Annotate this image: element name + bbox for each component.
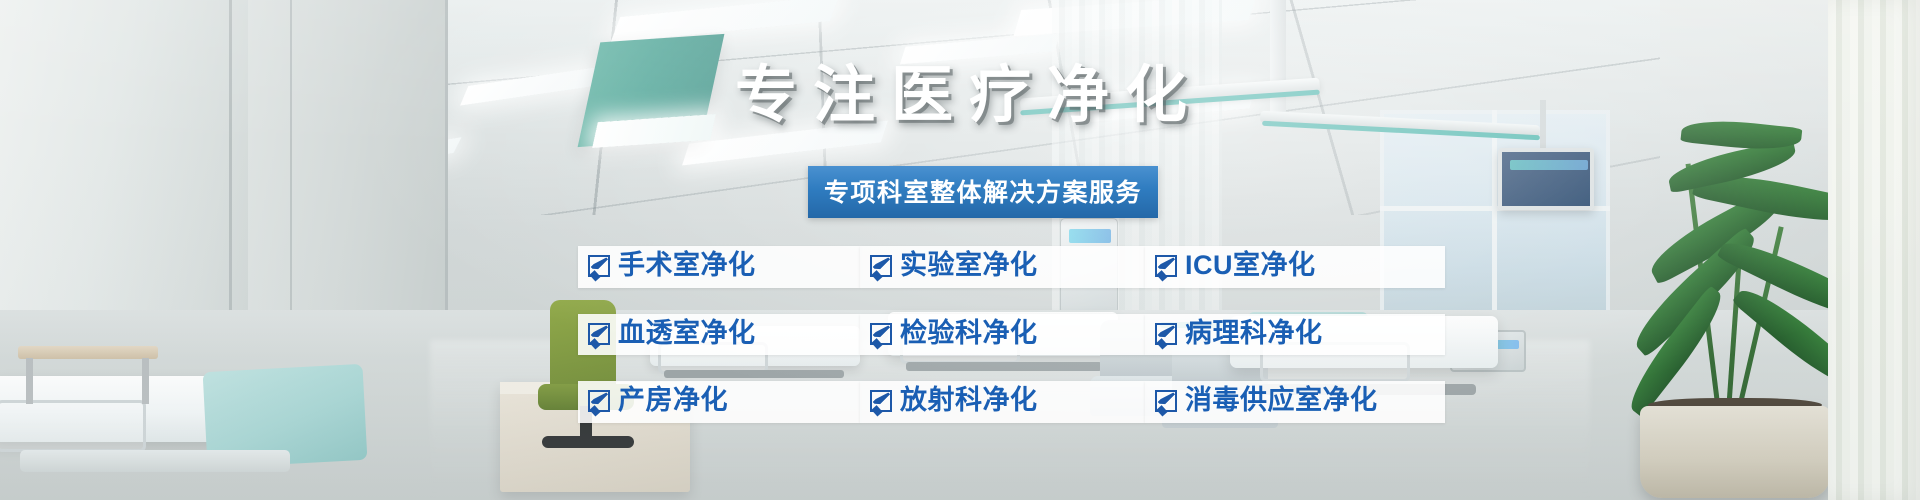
text-overlay: 专注医疗净化 专项科室整体解决方案服务 手术室净化 血透室净化 产房净化	[0, 0, 1920, 500]
service-item-cssd[interactable]: 消毒供应室净化	[1145, 381, 1445, 423]
service-column-1: 手术室净化 血透室净化 产房净化	[578, 246, 860, 449]
service-item-label: 血透室净化	[618, 319, 756, 349]
service-item-label: 放射科净化	[900, 386, 1038, 416]
service-columns: 手术室净化 血透室净化 产房净化 实验室净化	[578, 246, 1445, 449]
checkbox-checked-icon	[1155, 323, 1177, 345]
service-item-label: 产房净化	[618, 386, 728, 416]
service-item-operating-room[interactable]: 手术室净化	[578, 246, 860, 288]
checkbox-checked-icon	[870, 323, 892, 345]
service-item-clinical-lab[interactable]: 检验科净化	[860, 314, 1145, 356]
service-item-label: 实验室净化	[900, 251, 1038, 281]
checkbox-checked-icon	[1155, 390, 1177, 412]
service-list: 手术室净化 血透室净化 产房净化 实验室净化	[578, 246, 1445, 449]
service-item-delivery-room[interactable]: 产房净化	[578, 381, 860, 423]
service-column-3: ICU室净化 病理科净化 消毒供应室净化	[1145, 246, 1445, 449]
service-item-dialysis-room[interactable]: 血透室净化	[578, 314, 860, 356]
service-item-label: 手术室净化	[618, 251, 756, 281]
checkbox-checked-icon	[870, 390, 892, 412]
service-column-2: 实验室净化 检验科净化 放射科净化	[860, 246, 1145, 449]
checkbox-checked-icon	[588, 255, 610, 277]
checkbox-checked-icon	[870, 255, 892, 277]
service-item-label: 消毒供应室净化	[1185, 386, 1378, 416]
service-item-radiology[interactable]: 放射科净化	[860, 381, 1145, 423]
banner-headline: 专注医疗净化	[735, 44, 1203, 134]
service-item-label: ICU室净化	[1185, 251, 1316, 281]
service-item-icu[interactable]: ICU室净化	[1145, 246, 1445, 288]
service-item-label: 检验科净化	[900, 319, 1038, 349]
checkbox-checked-icon	[588, 323, 610, 345]
hero-banner: 专注医疗净化 专项科室整体解决方案服务 手术室净化 血透室净化 产房净化	[0, 0, 1920, 500]
checkbox-checked-icon	[1155, 255, 1177, 277]
service-item-pathology[interactable]: 病理科净化	[1145, 314, 1445, 356]
service-item-label: 病理科净化	[1185, 319, 1323, 349]
banner-subtitle-bar: 专项科室整体解决方案服务	[808, 166, 1158, 218]
checkbox-checked-icon	[588, 390, 610, 412]
service-item-laboratory[interactable]: 实验室净化	[860, 246, 1145, 288]
